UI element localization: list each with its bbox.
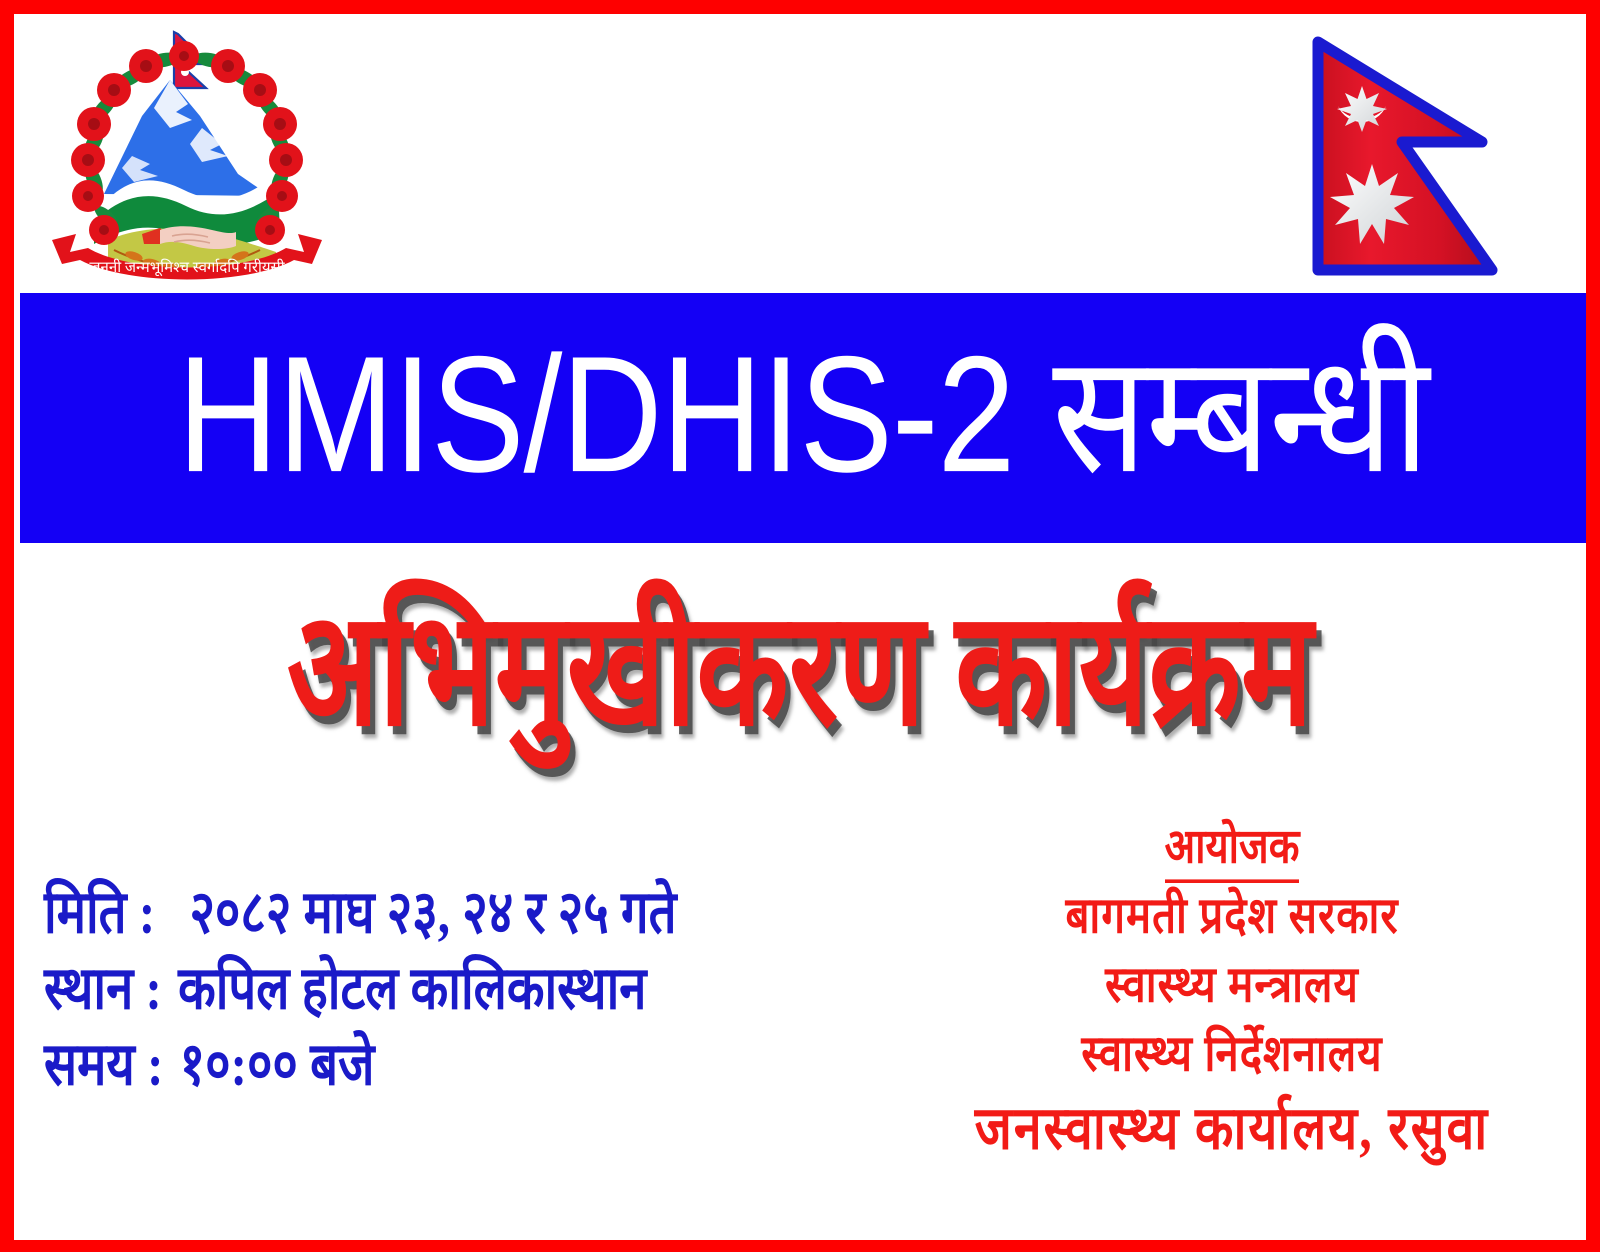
detail-row-venue: स्थान : कपिल होटल कालिकास्थान bbox=[44, 959, 764, 1019]
organizer-block: आयोजक बागमती प्रदेश सरकार स्वास्थ्य मन्त… bbox=[912, 828, 1552, 1153]
date-value: २०८२ माघ २३, २४ र २५ गते bbox=[189, 879, 676, 946]
poster-border-right bbox=[1586, 0, 1600, 1252]
event-details: मिति : २०८२ माघ २३, २४ र २५ गते स्थान : … bbox=[44, 888, 764, 1116]
organizer-line-ministry: स्वास्थ्य मन्त्रालय bbox=[912, 961, 1552, 1011]
title-banner: HMIS/DHIS-2 सम्बन्धी bbox=[20, 293, 1586, 543]
poster-border-top bbox=[0, 0, 1600, 14]
time-label: समय : bbox=[44, 1031, 163, 1098]
venue-label: स्थान : bbox=[44, 955, 162, 1022]
date-label: मिति : bbox=[44, 879, 155, 946]
nepal-emblem-icon: जननी जन्मभूमिश्च स्वर्गादपि गरीयसी bbox=[42, 24, 332, 286]
organizer-line-province: बागमती प्रदेश सरकार bbox=[912, 892, 1552, 942]
poster-border-bottom bbox=[0, 1240, 1600, 1252]
poster-border-left bbox=[0, 0, 14, 1252]
poster-body: मिति : २०८२ माघ २३, २४ र २५ गते स्थान : … bbox=[14, 800, 1586, 1238]
organizer-line-office: जनस्वास्थ्य कार्यालय, रसुवा bbox=[912, 1098, 1552, 1158]
organizer-heading: आयोजक bbox=[1165, 823, 1300, 883]
organizer-line-directorate: स्वास्थ्य निर्देशनालय bbox=[912, 1030, 1552, 1080]
poster-header: जननी जन्मभूमिश्च स्वर्गादपि गरीयसी bbox=[14, 14, 1586, 293]
nepal-flag-icon bbox=[1306, 34, 1516, 284]
detail-row-time: समय : १०:०० बजे bbox=[44, 1035, 764, 1095]
headline: अभिमुखीकरण कार्यक्रम bbox=[14, 556, 1586, 786]
headline-text: अभिमुखीकरण कार्यक्रम bbox=[287, 583, 1313, 758]
emblem-motto-text: जननी जन्मभूमिश्च स्वर्गादपि गरीयसी bbox=[89, 258, 285, 277]
detail-row-date: मिति : २०८२ माघ २३, २४ र २५ गते bbox=[44, 883, 764, 943]
time-value: १०:०० बजे bbox=[180, 1031, 375, 1098]
event-poster: जननी जन्मभूमिश्च स्वर्गादपि गरीयसी bbox=[0, 0, 1600, 1252]
venue-value: कपिल होटल कालिकास्थान bbox=[178, 955, 646, 1022]
title-banner-text: HMIS/DHIS-2 सम्बन्धी bbox=[178, 332, 1429, 504]
